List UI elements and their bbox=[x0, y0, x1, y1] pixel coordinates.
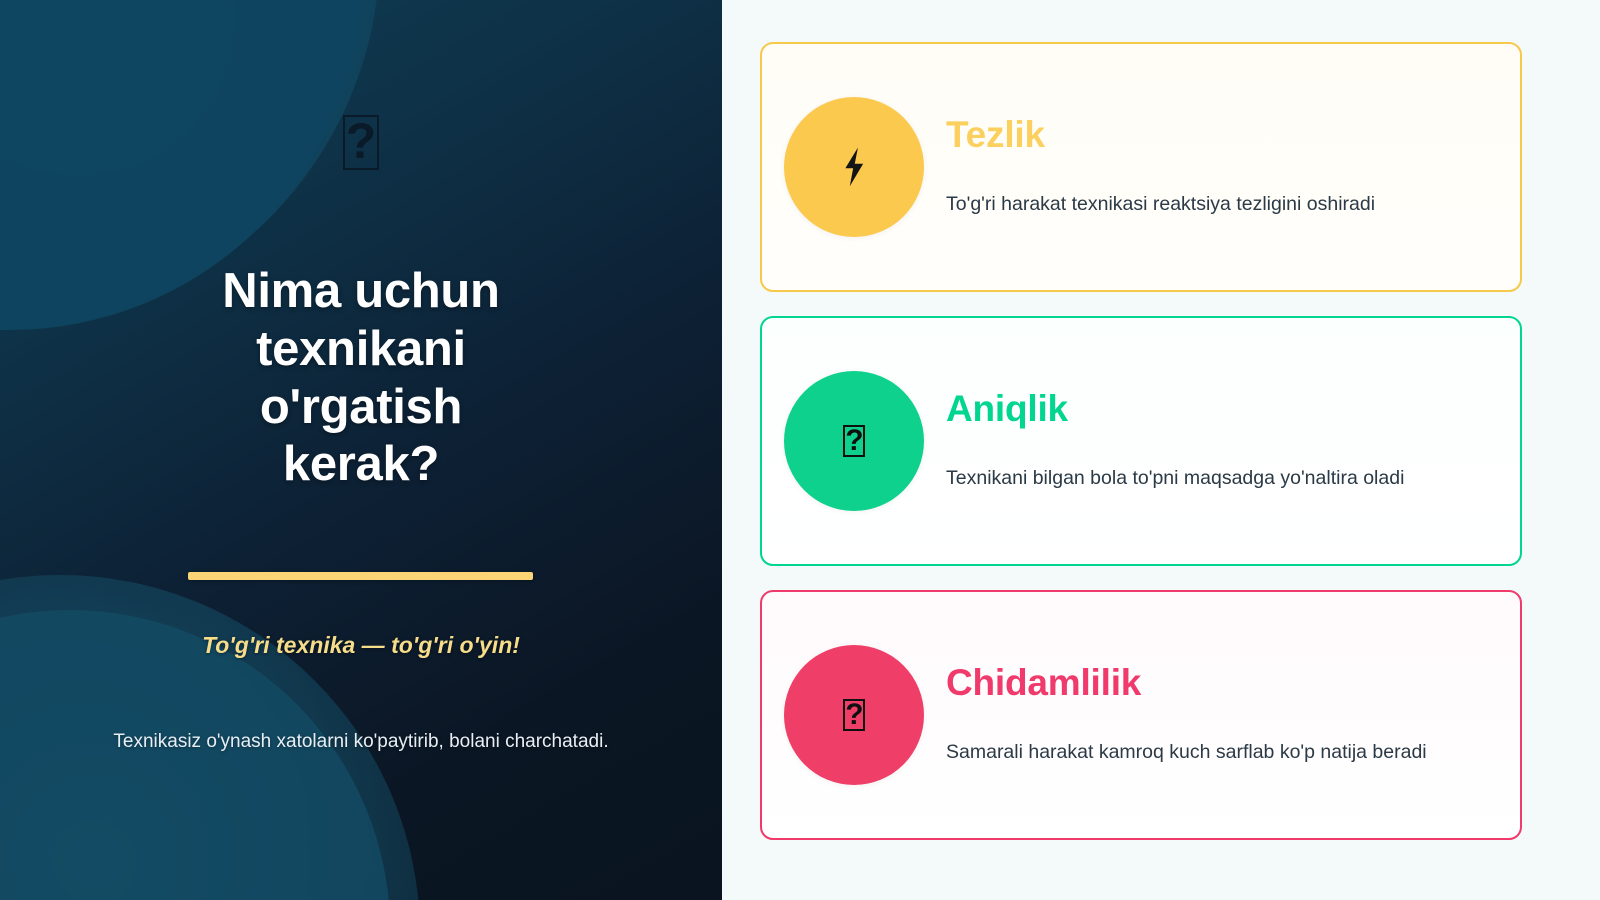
feature-card-title: Aniqlik bbox=[946, 389, 1492, 430]
feature-card-body: Tezlik To'g'ri harakat texnikasi reaktsi… bbox=[946, 115, 1520, 219]
feature-card-chidamlilik[interactable]: Chidamlilik Samarali harakat kamroq kuch… bbox=[760, 590, 1522, 840]
feature-card-aniqlik[interactable]: Aniqlik Texnikani bilgan bola to'pni maq… bbox=[760, 316, 1522, 566]
left-hero-panel: Nima uchun texnikani o'rgatish kerak? To… bbox=[0, 0, 722, 900]
feature-card-description: Samarali harakat kamroq kuch sarflab ko'… bbox=[946, 738, 1492, 767]
question-tofu-glyph bbox=[784, 645, 924, 785]
feature-card-body: Chidamlilik Samarali harakat kamroq kuch… bbox=[946, 663, 1520, 767]
question-tofu-box bbox=[343, 115, 379, 170]
feature-card-description: To'g'ri harakat texnikasi reaktsiya tezl… bbox=[946, 190, 1492, 219]
feature-card-tezlik[interactable]: Tezlik To'g'ri harakat texnikasi reaktsi… bbox=[760, 42, 1522, 292]
lightning-bolt-icon bbox=[784, 97, 924, 237]
page-title-line-4: kerak? bbox=[283, 437, 439, 491]
question-tofu-box bbox=[843, 699, 864, 732]
subtitle-text: Texnikasiz o'ynash xatolarni ko'paytirib… bbox=[96, 728, 626, 756]
slide-root: Nima uchun texnikani o'rgatish kerak? To… bbox=[0, 0, 1600, 900]
question-tofu-glyph bbox=[0, 108, 722, 172]
left-panel-content: Nima uchun texnikani o'rgatish kerak? To… bbox=[0, 0, 722, 900]
page-title-line-2: texnikani bbox=[256, 322, 466, 376]
feature-card-body: Aniqlik Texnikani bilgan bola to'pni maq… bbox=[946, 389, 1520, 493]
feature-card-description: Texnikani bilgan bola to'pni maqsadga yo… bbox=[946, 464, 1492, 493]
title-divider bbox=[188, 572, 533, 580]
tagline-text: To'g'ri texnika — to'g'ri o'yin! bbox=[40, 632, 682, 659]
page-title-line-3: o'rgatish bbox=[260, 380, 462, 434]
page-title-line-1: Nima uchun bbox=[222, 264, 499, 318]
question-tofu-box bbox=[843, 425, 864, 458]
feature-card-title: Chidamlilik bbox=[946, 663, 1492, 704]
feature-card-title: Tezlik bbox=[946, 115, 1492, 156]
right-cards-panel: Tezlik To'g'ri harakat texnikasi reaktsi… bbox=[722, 0, 1600, 900]
page-title: Nima uchun texnikani o'rgatish kerak? bbox=[60, 263, 662, 494]
question-tofu-glyph bbox=[784, 371, 924, 511]
